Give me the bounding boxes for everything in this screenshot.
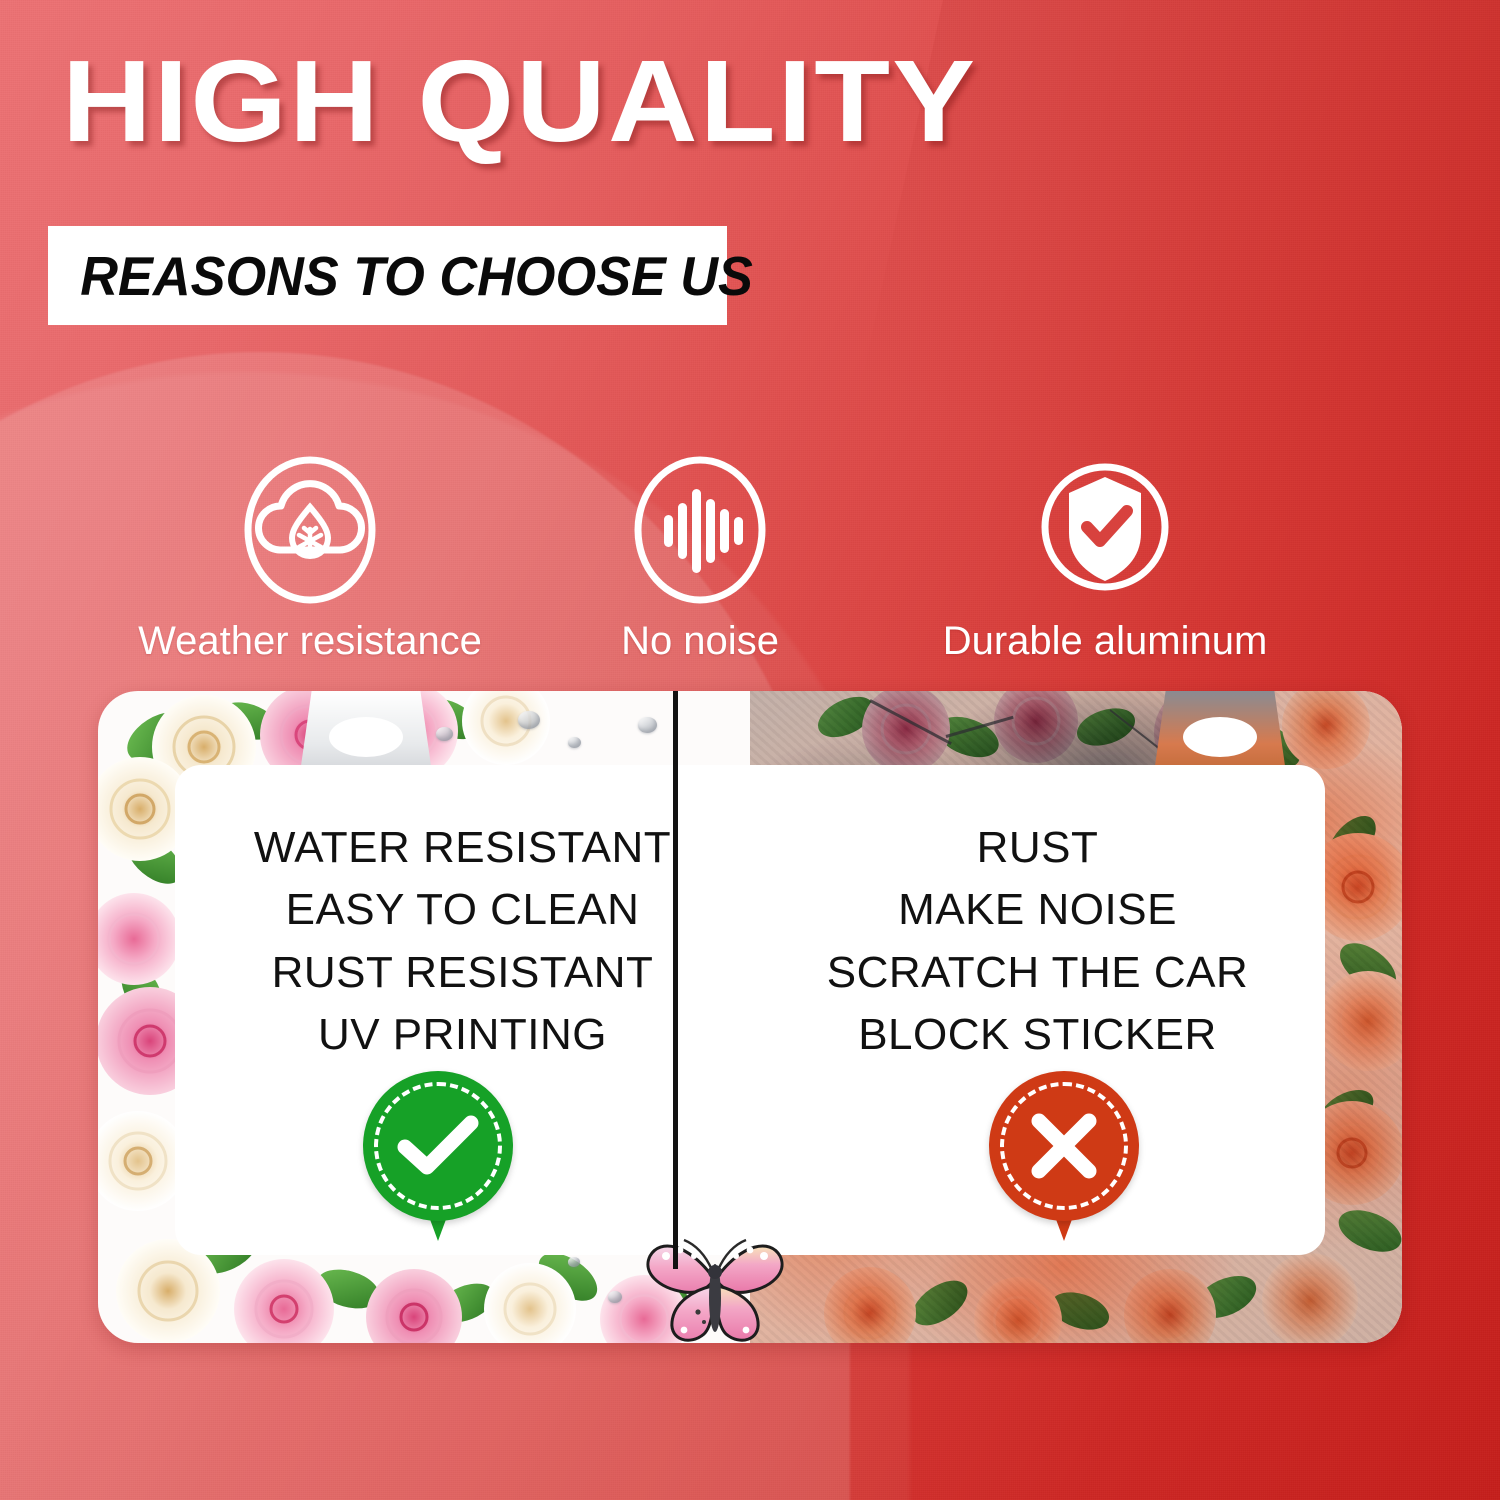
- pin-dashed-ring: [374, 1082, 502, 1210]
- mounting-hole-opening: [329, 717, 403, 757]
- shield-check-icon: [1035, 455, 1175, 605]
- comparison-panel: WATER RESISTANT EASY TO CLEAN RUST RESIS…: [175, 765, 1325, 1255]
- feature-label: Durable aluminum: [943, 619, 1268, 664]
- feature-row: Weather resistance No noise: [0, 455, 1500, 664]
- comparison-divider: [673, 691, 678, 1269]
- pin-dashed-ring: [1000, 1082, 1128, 1210]
- pink-butterfly-icon: [640, 1230, 790, 1355]
- water-droplet-icon: [608, 1291, 622, 1303]
- subtitle-text: REASONS TO CHOOSE US: [48, 244, 753, 308]
- feature-durable-aluminum: Durable aluminum: [890, 455, 1320, 664]
- bullet-item: UV PRINTING: [318, 1004, 607, 1066]
- water-droplet-icon: [568, 737, 581, 748]
- check-pin-icon: [363, 1071, 513, 1249]
- weather-cloud-rain-snow-icon: [240, 455, 380, 605]
- feature-no-noise: No noise: [550, 455, 850, 664]
- feature-label: Weather resistance: [138, 619, 482, 664]
- feature-weather-resistance: Weather resistance: [60, 455, 560, 664]
- water-droplet-icon: [638, 717, 657, 733]
- bullet-item: MAKE NOISE: [898, 879, 1177, 941]
- bullet-item: RUST: [977, 817, 1099, 879]
- water-droplet-icon: [518, 711, 540, 729]
- bullet-item: RUST RESISTANT: [272, 942, 654, 1004]
- sound-wave-icon: [630, 455, 770, 605]
- bullet-item: WATER RESISTANT: [254, 817, 671, 879]
- bullet-item: SCRATCH THE CAR: [827, 942, 1248, 1004]
- mounting-hole-opening: [1183, 717, 1257, 757]
- water-droplet-icon: [436, 727, 453, 741]
- water-droplet-icon: [568, 1257, 580, 1267]
- bullet-item: BLOCK STICKER: [858, 1004, 1217, 1066]
- cross-pin-icon: [989, 1071, 1139, 1249]
- bullet-item: EASY TO CLEAN: [286, 879, 640, 941]
- subtitle-banner: REASONS TO CHOOSE US: [48, 226, 727, 325]
- page-title: HIGH QUALITY: [62, 38, 977, 166]
- feature-label: No noise: [621, 619, 779, 664]
